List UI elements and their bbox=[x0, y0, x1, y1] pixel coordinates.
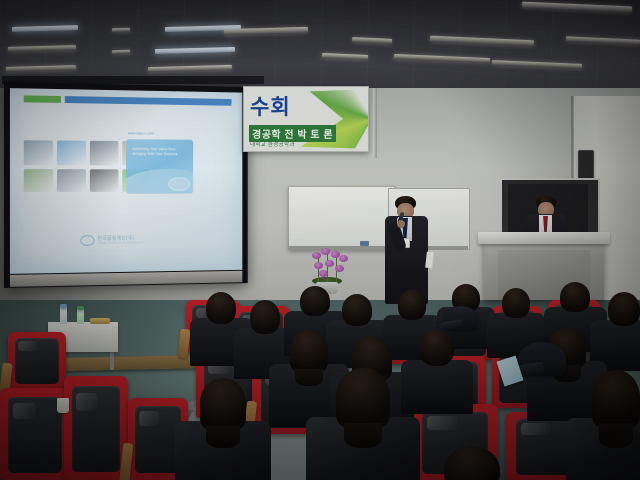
audience-member-hair bbox=[200, 378, 246, 430]
audience-member-hair bbox=[290, 330, 328, 372]
slide-thumbnail-machining-photo bbox=[90, 141, 119, 166]
bottle-cap bbox=[60, 304, 67, 308]
audience-member-hair bbox=[560, 282, 590, 312]
baseball-cap bbox=[444, 306, 478, 330]
audience-member-long-hair bbox=[295, 369, 322, 387]
seat-highlight bbox=[18, 341, 38, 351]
banner-footer: 대학교 환경공학과 bbox=[250, 140, 295, 148]
slide-panel-logo: kapeg bbox=[168, 177, 190, 191]
slide-thumbnail-blue-sky-photo bbox=[57, 140, 86, 165]
slide-url-text: www.kapco.com bbox=[128, 131, 154, 135]
baseball-cap bbox=[518, 342, 566, 376]
audience-member-head bbox=[398, 290, 426, 320]
orchid-flower bbox=[314, 262, 323, 269]
audience-member-hair bbox=[592, 370, 640, 428]
audience-member-hair bbox=[502, 288, 530, 318]
lectern-top-surface bbox=[478, 232, 610, 244]
auditorium-seat bbox=[64, 376, 128, 480]
seat-highlight bbox=[76, 393, 98, 412]
bottle-cap bbox=[77, 306, 84, 310]
slide-thumbnail-vehicle-photo bbox=[57, 169, 86, 192]
slide-tagline-line2: Bringing With Your Success bbox=[133, 152, 178, 158]
auditorium-seat bbox=[8, 332, 66, 388]
audience-member-head bbox=[342, 294, 372, 326]
audience-member-hair bbox=[336, 368, 390, 428]
ceiling-light-off bbox=[112, 28, 130, 32]
projection-screen: www.kapco.com Delivering Your Value Now … bbox=[4, 82, 248, 288]
orchid-flower bbox=[312, 252, 321, 259]
audience-member-long-hair bbox=[206, 426, 239, 448]
orchid-flower bbox=[319, 270, 328, 277]
whiteboard bbox=[288, 186, 395, 250]
slide-logo-mark-icon bbox=[80, 235, 94, 246]
orchid-flower bbox=[339, 255, 348, 262]
slide-tagline: Delivering Your Value Now Bringing With … bbox=[133, 147, 178, 158]
slide-panel-logo-text: kapeg bbox=[169, 181, 189, 185]
audience-member-hair bbox=[206, 292, 236, 324]
slide-blue-panel: Delivering Your Value Now Bringing With … bbox=[126, 139, 193, 194]
audience-member-hair bbox=[608, 292, 640, 326]
slide-accent-bar-green bbox=[24, 95, 61, 103]
audience-member-head bbox=[444, 446, 500, 480]
table-leg bbox=[110, 350, 114, 370]
whiteboard-magnet bbox=[360, 241, 369, 246]
audience-member-head bbox=[290, 330, 328, 372]
beverage-bottle bbox=[77, 306, 84, 324]
orchid-flower bbox=[321, 248, 330, 255]
audience-member-head bbox=[300, 286, 330, 316]
slide-thumbnail-wheel-field-photo bbox=[24, 169, 53, 192]
audience-member-head bbox=[336, 368, 390, 428]
water-bottle bbox=[60, 304, 67, 324]
banner-title: 수회 bbox=[250, 97, 291, 118]
audience-member-head bbox=[608, 292, 640, 326]
presenter-papers bbox=[425, 252, 434, 269]
seat-highlight bbox=[427, 416, 456, 430]
slide-logo-english: KOREA FOUNDATION FOR QUALITY bbox=[98, 241, 146, 244]
orchid-flower bbox=[325, 260, 334, 267]
seat-highlight bbox=[13, 403, 37, 420]
audience-member-hair bbox=[250, 300, 280, 334]
audience-member-long-hair bbox=[344, 423, 383, 448]
audience-member-hair bbox=[342, 294, 372, 326]
audience-member-hair bbox=[398, 290, 426, 320]
slide-thumbnail-keyboard-photo bbox=[90, 169, 119, 192]
slide-company-logo: 한국품질재단(주) KOREA FOUNDATION FOR QUALITY bbox=[80, 232, 174, 247]
snack-plate bbox=[90, 318, 110, 324]
orchid-flower bbox=[335, 265, 344, 272]
presenter-hand bbox=[397, 220, 405, 228]
audience-member-coat bbox=[401, 360, 472, 414]
slide-content: www.kapco.com Delivering Your Value Now … bbox=[10, 88, 242, 274]
audience-member-head bbox=[560, 282, 590, 312]
audience-member-hair bbox=[444, 446, 500, 480]
ceiling-light-off bbox=[112, 50, 130, 54]
audience-member-head bbox=[250, 300, 280, 334]
audience-member-long-hair bbox=[599, 423, 634, 447]
slide-thumbnail-crowd-photo bbox=[24, 140, 53, 165]
auditorium-photo: www.kapco.com Delivering Your Value Now … bbox=[0, 0, 640, 480]
seat-highlight bbox=[139, 411, 159, 426]
banner-pole bbox=[373, 88, 377, 158]
audience-member-head bbox=[200, 378, 246, 430]
audience-member-hair bbox=[420, 330, 454, 366]
paper-cup bbox=[57, 398, 69, 413]
presenter-with-microphone bbox=[381, 196, 433, 304]
audience-member-head bbox=[502, 288, 530, 318]
audience-member-hair bbox=[300, 286, 330, 316]
audience-member-head bbox=[592, 370, 640, 428]
audience-member-head bbox=[206, 292, 236, 324]
seat-highlight bbox=[521, 423, 550, 435]
audience-member-head bbox=[420, 330, 454, 366]
event-banner: 수회 경공학 전 박 토 론 대학교 환경공학과 bbox=[243, 86, 369, 152]
